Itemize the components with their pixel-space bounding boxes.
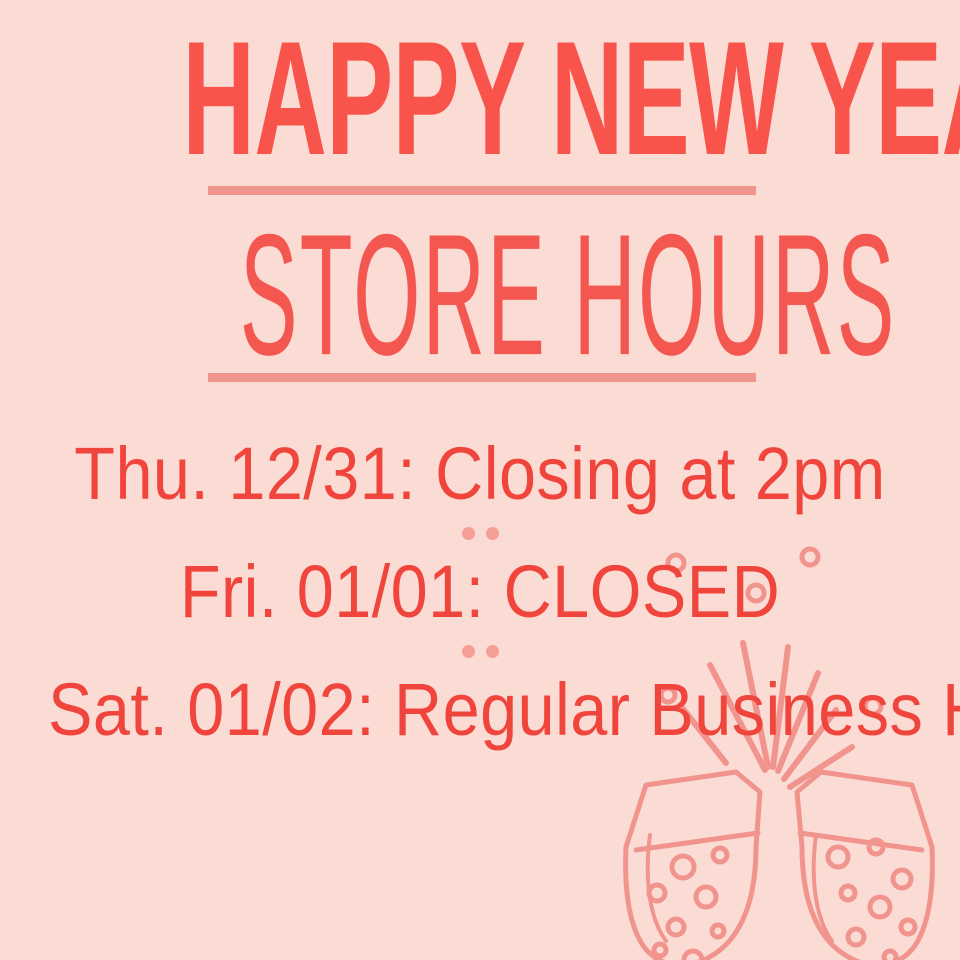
dot-separator — [0, 516, 960, 550]
hours-line-thursday: Thu. 12/31: Closing at 2pm — [48, 432, 912, 516]
subtitle: STORE HOURS — [240, 209, 720, 381]
poster-canvas: HAPPY NEW YEAR STORE HOURS Thu. 12/31: C… — [0, 0, 960, 960]
dot — [462, 645, 475, 658]
hours-line-friday: Fri. 01/01: CLOSED — [48, 550, 912, 634]
page-title: HAPPY NEW YEAR — [182, 18, 777, 180]
dot — [486, 645, 499, 658]
divider-bottom — [208, 373, 756, 382]
dot-separator — [0, 634, 960, 668]
divider-top — [208, 186, 756, 195]
dot — [462, 527, 475, 540]
dot — [486, 527, 499, 540]
hours-line-saturday: Sat. 01/02: Regular Business Hours — [48, 668, 912, 752]
store-hours-list: Thu. 12/31: Closing at 2pm Fri. 01/01: C… — [0, 432, 960, 752]
